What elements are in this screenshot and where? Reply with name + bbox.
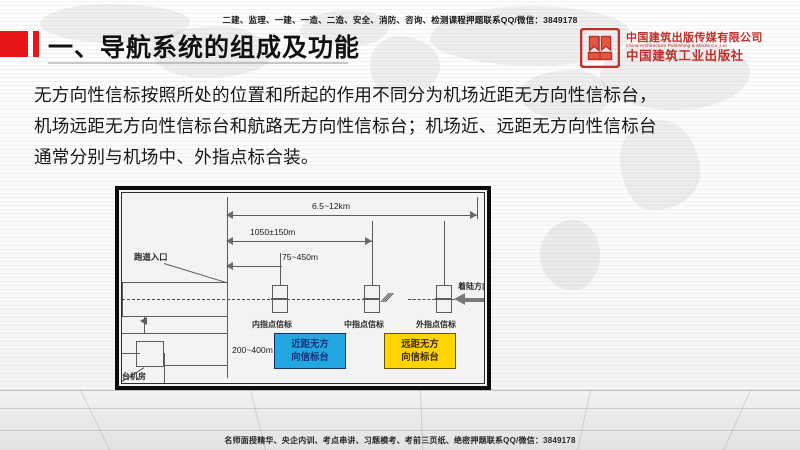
- title-underline: [48, 62, 348, 64]
- centerline-segment: [412, 299, 414, 300]
- dimension-arrow-right-icon: [365, 237, 372, 245]
- runway-entrance-leader-line: [164, 263, 227, 283]
- navigation-beacon-diagram: 6.5~12km 1050±150m 75~450m 跑道入口: [115, 186, 491, 390]
- paragraph-line-2: 机场远距无方向性信标台和航路无方向性信标台；机场近、远距无方向性信标台: [34, 111, 774, 142]
- machine-room-baseline: [164, 365, 228, 366]
- landing-direction-arrow-head-icon: [454, 293, 465, 305]
- dimension-line-inner: [227, 266, 282, 267]
- slide-canvas: 二建、监理、一建、一造、二造、安全、消防、咨询、检测课程押题联系QQ/微信：38…: [0, 0, 800, 450]
- landing-direction-arrow-shaft: [464, 298, 485, 302]
- top-promo-banner: 二建、监理、一建、一造、二造、安全、消防、咨询、检测课程押题联系QQ/微信：38…: [0, 10, 800, 24]
- diagram-inner-frame: 6.5~12km 1050±150m 75~450m 跑道入口: [121, 192, 485, 384]
- dimension-arrow-right-icon: [470, 211, 477, 219]
- bottom-promo-banner: 名师面授精华、央企内训、考点串讲、习题模考、考前三页纸、绝密押题联系QQ/微信：…: [0, 430, 800, 448]
- machine-room-label: 台机房: [122, 371, 146, 382]
- logo-press-cn: 中国建筑工业出版社: [626, 50, 763, 63]
- world-map-watermark-shape: [540, 220, 600, 290]
- outer-marker-beacon-icon: [436, 285, 452, 313]
- dimension-label-outer: 6.5~12km: [312, 201, 350, 211]
- centerline-break-symbol-icon: ⁄⁄⁄: [382, 290, 393, 305]
- top-promo-text: 二建、监理、一建、一造、二造、安全、消防、咨询、检测课程押题联系QQ/微信：38…: [222, 15, 577, 25]
- tower-connection-line: [122, 333, 228, 334]
- middle-marker-label: 中指点信标: [344, 319, 384, 330]
- runway-entrance-label: 跑道入口: [134, 251, 168, 263]
- title-red-bar-icon: [33, 31, 39, 57]
- outer-marker-stem: [444, 221, 445, 285]
- inner-marker-stem: [280, 253, 281, 285]
- dimension-line-outer: [227, 215, 477, 216]
- tower-dimension-arrow-icon: [140, 317, 147, 325]
- dimension-label-tower: 200~400m: [232, 345, 273, 355]
- inner-marker-label: 内指点信标: [252, 319, 292, 330]
- body-paragraph: 无方向性信标按照所处的位置和所起的作用不同分为机场近距无方向性信标台， 机场远距…: [34, 80, 774, 173]
- dimension-label-middle: 1050±150m: [250, 227, 295, 237]
- publisher-logo: 中国建筑出版传媒有限公司 China Architecture Publishi…: [580, 26, 792, 70]
- machine-room-riser: [164, 353, 165, 383]
- outer-marker-label: 外指点信标: [416, 319, 456, 330]
- publisher-logo-text: 中国建筑出版传媒有限公司 China Architecture Publishi…: [626, 33, 763, 63]
- tower-reference-line: [227, 316, 228, 378]
- bottom-promo-text: 名师面授精华、央企内训、考点串讲、习题模考、考前三页纸、绝密押题联系QQ/微信：…: [224, 436, 575, 445]
- paragraph-line-3: 通常分别与机场中、外指点标合装。: [34, 142, 774, 173]
- middle-marker-beacon-icon: [364, 285, 380, 313]
- dimension-label-inner: 75~450m: [282, 252, 318, 262]
- approach-centerline: [122, 299, 380, 300]
- middle-marker-stem: [372, 221, 373, 285]
- runway-edge-line-bottom: [122, 316, 228, 317]
- floor-horizon-line: [0, 390, 800, 391]
- machine-room-connector: [122, 353, 140, 354]
- dimension-tick: [477, 197, 478, 219]
- landing-direction-label: 着陆方向: [458, 281, 485, 292]
- inner-marker-beacon-icon: [272, 285, 288, 313]
- callout-near-beacon: 近距无方 向信标台: [274, 333, 346, 369]
- title-red-block-icon: [0, 31, 28, 57]
- paragraph-line-1: 无方向性信标按照所处的位置和所起的作用不同分为机场近距无方向性信标台，: [34, 80, 774, 111]
- page-title: 一、导航系统的组成及功能: [48, 28, 360, 64]
- machine-room-building-icon: [136, 341, 164, 367]
- floor-gridline: [0, 408, 800, 409]
- dimension-line-middle: [227, 241, 372, 242]
- publisher-logo-mark-icon: [580, 28, 620, 68]
- callout-far-beacon: 远距无方 向信标台: [384, 333, 456, 369]
- runway-edge-line-top: [122, 282, 228, 283]
